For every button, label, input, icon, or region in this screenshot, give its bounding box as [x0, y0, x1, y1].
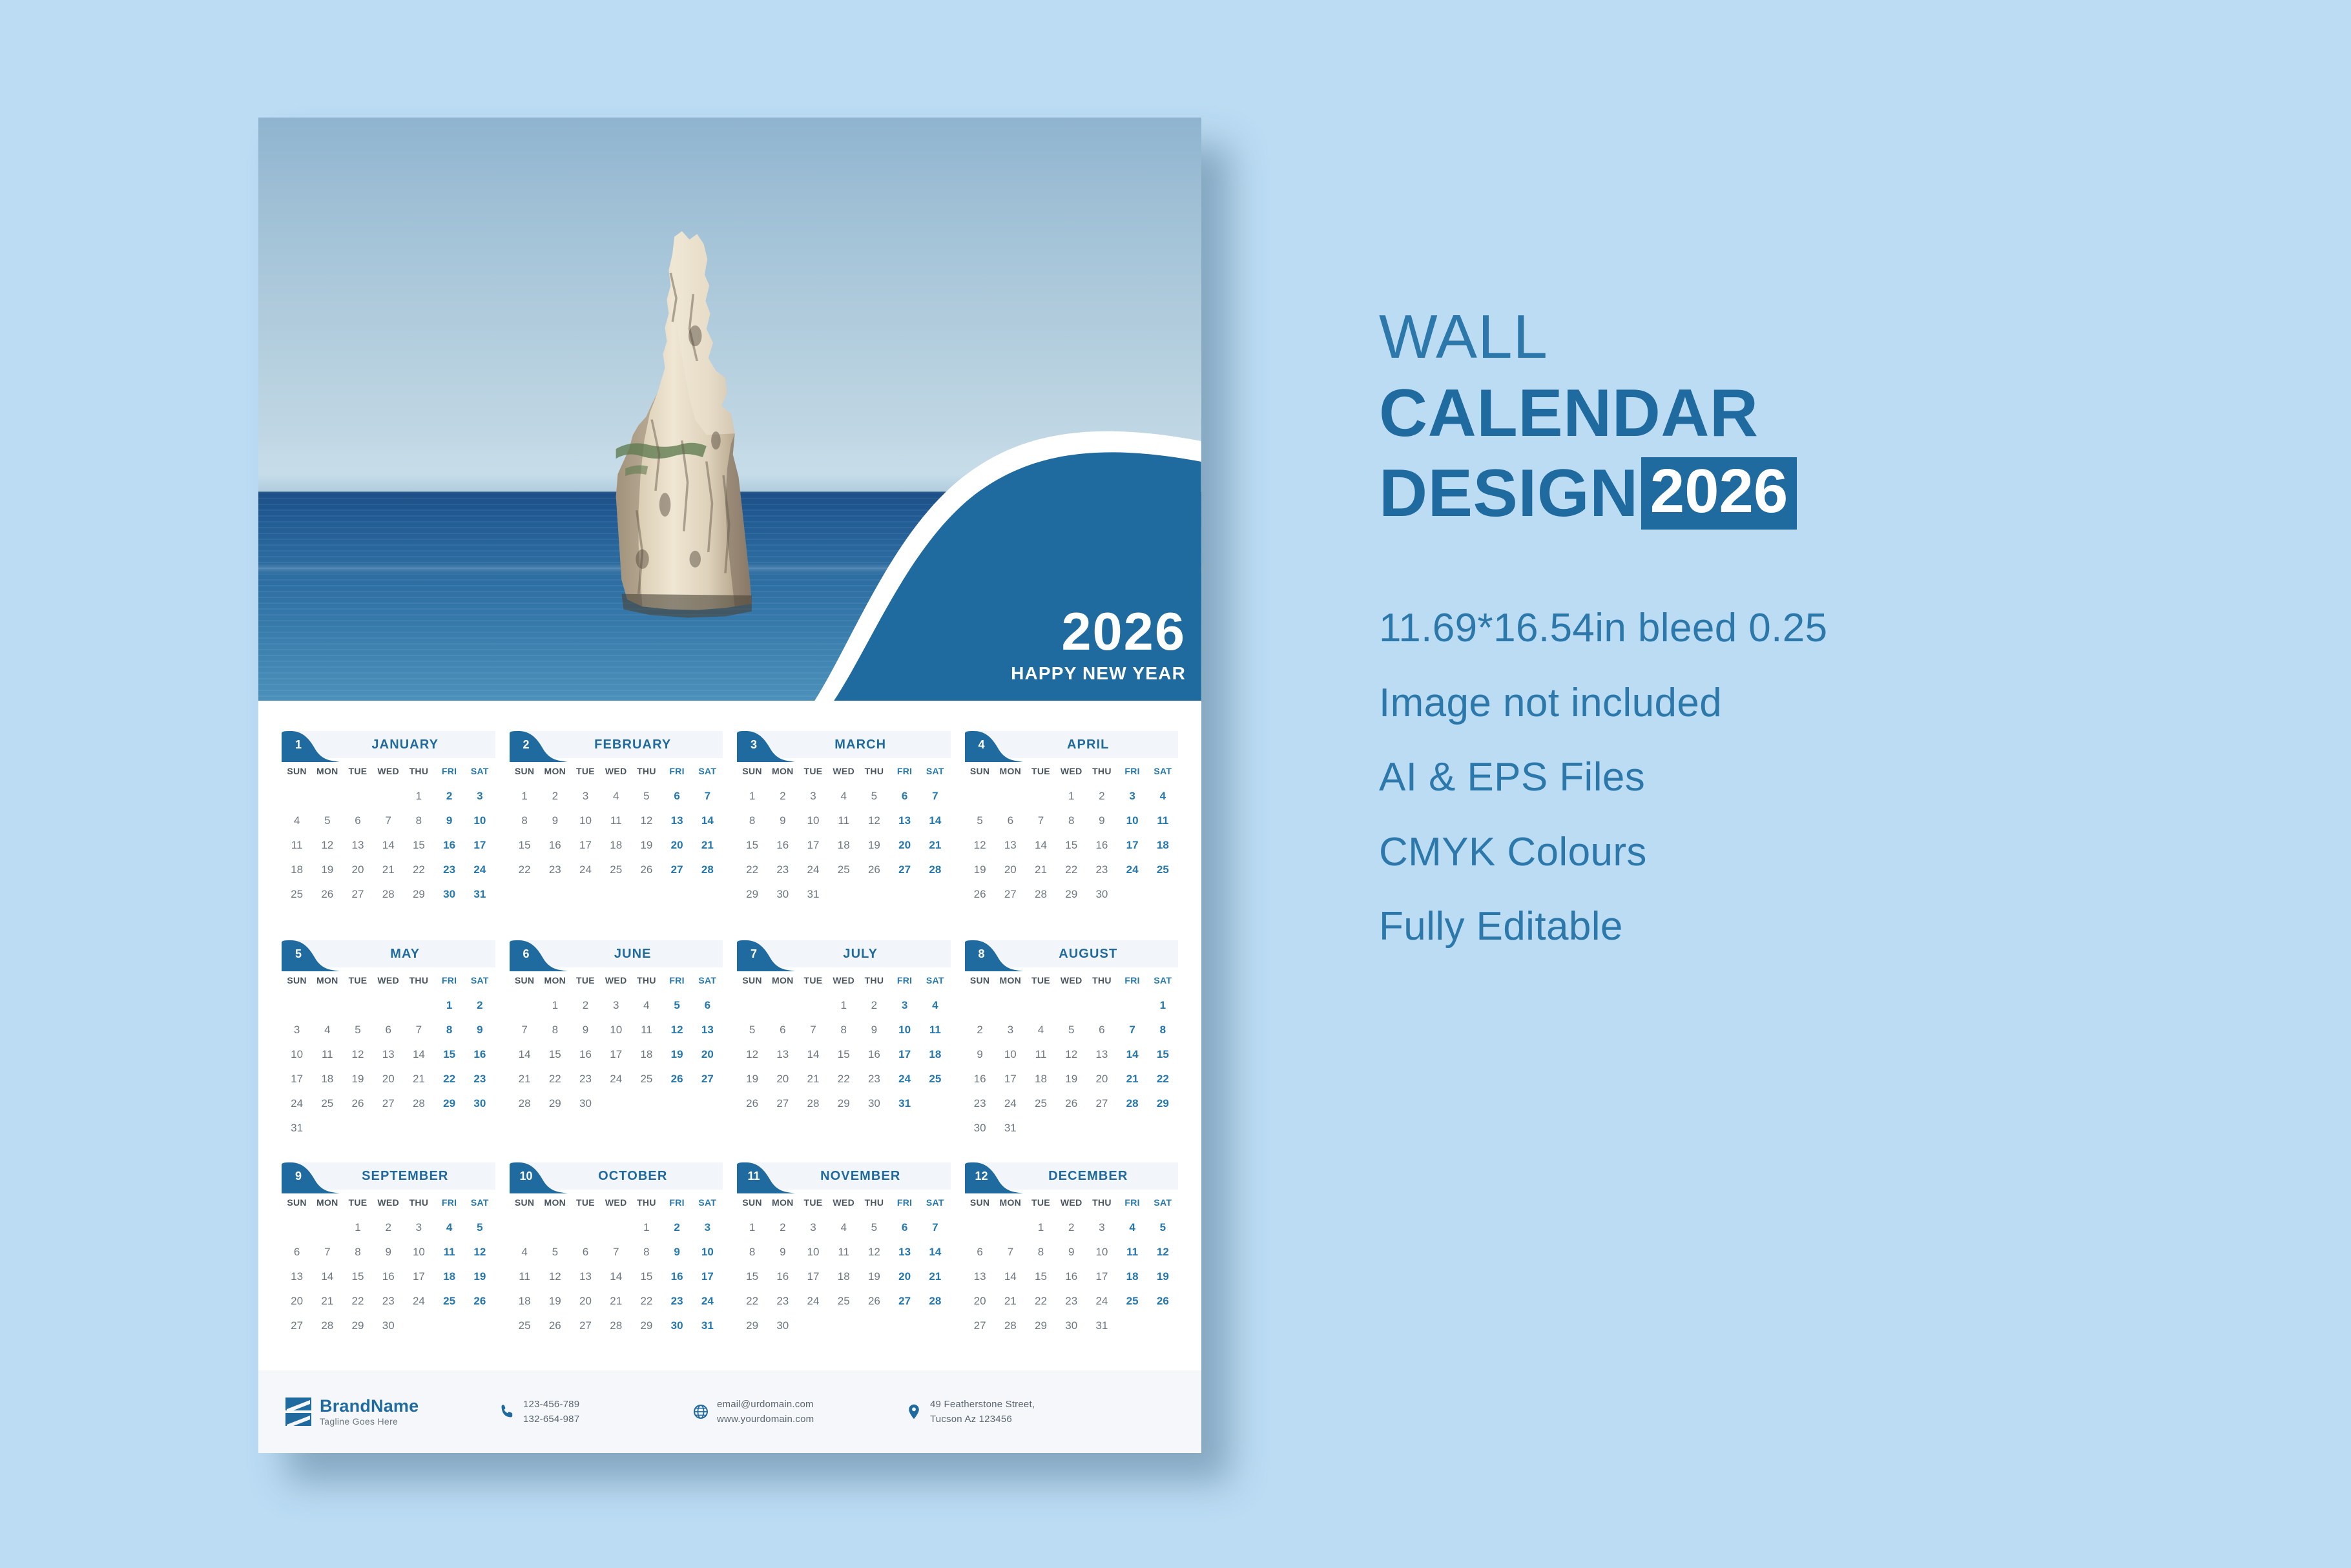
day-cell[interactable]: 17 [464, 833, 495, 858]
day-cell[interactable] [601, 1215, 631, 1240]
day-cell[interactable]: 13 [889, 809, 920, 833]
day-cell[interactable]: 16 [767, 1264, 798, 1289]
day-cell[interactable]: 14 [920, 1240, 950, 1264]
day-cell[interactable]: 11 [601, 809, 631, 833]
day-cell[interactable]: 14 [510, 1042, 540, 1067]
day-cell[interactable]: 29 [1026, 1314, 1056, 1338]
day-cell[interactable]: 11 [1026, 1042, 1056, 1067]
day-cell[interactable] [1117, 1314, 1148, 1338]
day-cell[interactable] [1026, 784, 1056, 809]
day-cell[interactable]: 1 [829, 993, 859, 1018]
day-cell[interactable] [373, 784, 404, 809]
day-cell[interactable]: 21 [510, 1067, 540, 1091]
day-cell[interactable]: 3 [995, 1018, 1026, 1042]
day-cell[interactable]: 15 [631, 1264, 661, 1289]
day-cell[interactable]: 2 [859, 993, 889, 1018]
day-cell[interactable]: 11 [434, 1240, 464, 1264]
day-cell[interactable] [373, 1116, 404, 1140]
day-cell[interactable]: 3 [1117, 784, 1148, 809]
day-cell[interactable] [798, 1116, 828, 1128]
day-cell[interactable]: 7 [1026, 809, 1056, 833]
day-cell[interactable]: 6 [342, 809, 373, 833]
day-cell[interactable] [889, 882, 920, 907]
day-cell[interactable] [510, 894, 540, 905]
day-cell[interactable]: 4 [312, 1018, 342, 1042]
day-cell[interactable]: 21 [1117, 1067, 1148, 1091]
day-cell[interactable]: 13 [692, 1018, 723, 1042]
day-cell[interactable] [692, 882, 723, 894]
day-cell[interactable] [1056, 1116, 1086, 1140]
day-cell[interactable]: 4 [829, 1215, 859, 1240]
day-cell[interactable]: 16 [540, 833, 570, 858]
day-cell[interactable]: 30 [464, 1091, 495, 1116]
day-cell[interactable]: 22 [342, 1289, 373, 1314]
day-cell[interactable]: 5 [1148, 1215, 1178, 1240]
day-cell[interactable]: 14 [692, 809, 723, 833]
day-cell[interactable]: 24 [995, 1091, 1026, 1116]
day-cell[interactable]: 8 [510, 809, 540, 833]
day-cell[interactable] [540, 1215, 570, 1240]
day-cell[interactable]: 6 [995, 809, 1026, 833]
day-cell[interactable]: 10 [995, 1042, 1026, 1067]
day-cell[interactable]: 30 [434, 882, 464, 907]
day-cell[interactable]: 25 [829, 858, 859, 882]
day-cell[interactable]: 6 [373, 1018, 404, 1042]
day-cell[interactable]: 13 [995, 833, 1026, 858]
day-cell[interactable]: 27 [342, 882, 373, 907]
day-cell[interactable]: 24 [889, 1067, 920, 1091]
day-cell[interactable] [510, 882, 540, 894]
day-cell[interactable]: 15 [1148, 1042, 1178, 1067]
day-cell[interactable] [282, 993, 312, 1018]
day-cell[interactable] [692, 1338, 723, 1350]
day-cell[interactable]: 10 [798, 1240, 828, 1264]
day-cell[interactable]: 24 [798, 1289, 828, 1314]
day-cell[interactable]: 18 [282, 858, 312, 882]
day-cell[interactable]: 25 [1148, 858, 1178, 882]
day-cell[interactable] [570, 882, 601, 894]
day-cell[interactable]: 2 [1056, 1215, 1086, 1240]
day-cell[interactable]: 26 [662, 1067, 692, 1091]
day-cell[interactable]: 5 [737, 1018, 767, 1042]
day-cell[interactable] [995, 1215, 1026, 1240]
day-cell[interactable]: 23 [662, 1289, 692, 1314]
day-cell[interactable] [995, 907, 1026, 918]
day-cell[interactable] [829, 1116, 859, 1128]
day-cell[interactable]: 15 [829, 1042, 859, 1067]
day-cell[interactable] [1086, 907, 1117, 918]
day-cell[interactable]: 28 [510, 1091, 540, 1116]
day-cell[interactable]: 20 [342, 858, 373, 882]
day-cell[interactable] [540, 1338, 570, 1350]
day-cell[interactable]: 23 [373, 1289, 404, 1314]
day-cell[interactable] [1117, 1338, 1148, 1350]
day-cell[interactable]: 16 [1086, 833, 1117, 858]
day-cell[interactable]: 27 [889, 1289, 920, 1314]
day-cell[interactable]: 29 [1148, 1091, 1178, 1116]
day-cell[interactable] [282, 907, 312, 918]
day-cell[interactable]: 20 [767, 1067, 798, 1091]
day-cell[interactable]: 22 [631, 1289, 661, 1314]
day-cell[interactable] [920, 1091, 950, 1116]
day-cell[interactable]: 20 [889, 833, 920, 858]
day-cell[interactable]: 12 [464, 1240, 495, 1264]
day-cell[interactable]: 8 [342, 1240, 373, 1264]
day-cell[interactable] [920, 907, 950, 918]
day-cell[interactable] [1026, 993, 1056, 1018]
day-cell[interactable]: 24 [570, 858, 601, 882]
day-cell[interactable]: 26 [312, 882, 342, 907]
day-cell[interactable]: 17 [798, 833, 828, 858]
day-cell[interactable]: 5 [464, 1215, 495, 1240]
day-cell[interactable] [859, 1314, 889, 1338]
day-cell[interactable]: 7 [920, 784, 950, 809]
day-cell[interactable] [631, 1338, 661, 1350]
day-cell[interactable] [342, 907, 373, 918]
day-cell[interactable] [404, 1116, 434, 1140]
day-cell[interactable] [965, 907, 995, 918]
day-cell[interactable]: 16 [767, 833, 798, 858]
day-cell[interactable]: 12 [965, 833, 995, 858]
day-cell[interactable] [601, 1091, 631, 1116]
day-cell[interactable]: 5 [540, 1240, 570, 1264]
day-cell[interactable]: 13 [662, 809, 692, 833]
day-cell[interactable] [540, 1116, 570, 1128]
day-cell[interactable] [342, 993, 373, 1018]
day-cell[interactable]: 30 [373, 1314, 404, 1338]
day-cell[interactable]: 25 [510, 1314, 540, 1338]
day-cell[interactable]: 24 [692, 1289, 723, 1314]
day-cell[interactable]: 15 [737, 1264, 767, 1289]
day-cell[interactable] [312, 1215, 342, 1240]
day-cell[interactable]: 27 [889, 858, 920, 882]
day-cell[interactable]: 14 [1026, 833, 1056, 858]
day-cell[interactable]: 5 [1056, 1018, 1086, 1042]
day-cell[interactable] [570, 1338, 601, 1350]
day-cell[interactable] [464, 907, 495, 918]
day-cell[interactable] [312, 1116, 342, 1140]
day-cell[interactable] [312, 1338, 342, 1350]
day-cell[interactable]: 31 [798, 882, 828, 907]
day-cell[interactable] [889, 1314, 920, 1338]
day-cell[interactable] [342, 1338, 373, 1350]
day-cell[interactable]: 7 [1117, 1018, 1148, 1042]
day-cell[interactable]: 16 [373, 1264, 404, 1289]
day-cell[interactable]: 12 [1056, 1042, 1086, 1067]
day-cell[interactable]: 29 [737, 1314, 767, 1338]
day-cell[interactable]: 16 [434, 833, 464, 858]
day-cell[interactable] [737, 1116, 767, 1128]
day-cell[interactable] [464, 1116, 495, 1140]
day-cell[interactable]: 9 [1086, 809, 1117, 833]
day-cell[interactable]: 1 [342, 1215, 373, 1240]
day-cell[interactable]: 22 [829, 1067, 859, 1091]
day-cell[interactable]: 6 [889, 1215, 920, 1240]
day-cell[interactable] [312, 784, 342, 809]
day-cell[interactable]: 14 [920, 809, 950, 833]
day-cell[interactable]: 27 [282, 1314, 312, 1338]
day-cell[interactable]: 14 [373, 833, 404, 858]
day-cell[interactable]: 22 [737, 1289, 767, 1314]
day-cell[interactable]: 20 [282, 1289, 312, 1314]
day-cell[interactable]: 22 [434, 1067, 464, 1091]
day-cell[interactable]: 18 [601, 833, 631, 858]
day-cell[interactable] [965, 1215, 995, 1240]
day-cell[interactable]: 24 [1117, 858, 1148, 882]
day-cell[interactable] [1086, 993, 1117, 1018]
day-cell[interactable]: 8 [540, 1018, 570, 1042]
day-cell[interactable]: 5 [859, 784, 889, 809]
day-cell[interactable]: 20 [662, 833, 692, 858]
day-cell[interactable]: 19 [631, 833, 661, 858]
day-cell[interactable] [1056, 993, 1086, 1018]
day-cell[interactable]: 2 [373, 1215, 404, 1240]
day-cell[interactable]: 30 [767, 1314, 798, 1338]
day-cell[interactable]: 1 [1026, 1215, 1056, 1240]
day-cell[interactable]: 17 [995, 1067, 1026, 1091]
day-cell[interactable]: 31 [995, 1116, 1026, 1140]
day-cell[interactable]: 26 [965, 882, 995, 907]
day-cell[interactable]: 16 [570, 1042, 601, 1067]
day-cell[interactable]: 4 [920, 993, 950, 1018]
day-cell[interactable]: 12 [631, 809, 661, 833]
day-cell[interactable]: 22 [510, 858, 540, 882]
day-cell[interactable] [1026, 907, 1056, 918]
day-cell[interactable] [540, 894, 570, 905]
day-cell[interactable]: 20 [570, 1289, 601, 1314]
day-cell[interactable]: 14 [312, 1264, 342, 1289]
day-cell[interactable]: 16 [859, 1042, 889, 1067]
day-cell[interactable]: 19 [859, 1264, 889, 1289]
footer-web[interactable]: email@urdomain.com www.yourdomain.com [692, 1397, 906, 1427]
day-cell[interactable]: 23 [767, 858, 798, 882]
day-cell[interactable] [767, 993, 798, 1018]
day-cell[interactable]: 9 [859, 1018, 889, 1042]
day-cell[interactable]: 29 [434, 1091, 464, 1116]
day-cell[interactable]: 30 [1056, 1314, 1086, 1338]
day-cell[interactable]: 3 [692, 1215, 723, 1240]
day-cell[interactable] [995, 1338, 1026, 1350]
day-cell[interactable]: 16 [662, 1264, 692, 1289]
day-cell[interactable]: 12 [662, 1018, 692, 1042]
day-cell[interactable]: 24 [282, 1091, 312, 1116]
day-cell[interactable] [1117, 1116, 1148, 1140]
day-cell[interactable]: 27 [965, 1314, 995, 1338]
day-cell[interactable]: 28 [312, 1314, 342, 1338]
day-cell[interactable]: 2 [767, 784, 798, 809]
day-cell[interactable]: 4 [1026, 1018, 1056, 1042]
day-cell[interactable] [889, 907, 920, 918]
day-cell[interactable]: 27 [995, 882, 1026, 907]
day-cell[interactable] [510, 1215, 540, 1240]
day-cell[interactable] [570, 894, 601, 905]
day-cell[interactable]: 9 [570, 1018, 601, 1042]
day-cell[interactable]: 11 [1148, 809, 1178, 833]
day-cell[interactable]: 27 [692, 1067, 723, 1091]
day-cell[interactable]: 19 [1148, 1264, 1178, 1289]
day-cell[interactable]: 11 [282, 833, 312, 858]
day-cell[interactable]: 9 [965, 1042, 995, 1067]
day-cell[interactable]: 14 [1117, 1042, 1148, 1067]
day-cell[interactable]: 9 [662, 1240, 692, 1264]
day-cell[interactable]: 31 [282, 1116, 312, 1140]
day-cell[interactable]: 17 [889, 1042, 920, 1067]
day-cell[interactable] [859, 1338, 889, 1350]
day-cell[interactable] [859, 1116, 889, 1128]
day-cell[interactable]: 7 [920, 1215, 950, 1240]
day-cell[interactable]: 8 [1148, 1018, 1178, 1042]
day-cell[interactable]: 22 [540, 1067, 570, 1091]
day-cell[interactable]: 3 [464, 784, 495, 809]
day-cell[interactable]: 29 [342, 1314, 373, 1338]
day-cell[interactable]: 21 [692, 833, 723, 858]
day-cell[interactable]: 13 [373, 1042, 404, 1067]
day-cell[interactable]: 3 [889, 993, 920, 1018]
day-cell[interactable] [1086, 1338, 1117, 1350]
day-cell[interactable] [1026, 1116, 1056, 1140]
day-cell[interactable] [312, 907, 342, 918]
day-cell[interactable] [570, 1215, 601, 1240]
day-cell[interactable]: 28 [995, 1314, 1026, 1338]
day-cell[interactable] [1148, 1338, 1178, 1350]
day-cell[interactable] [1117, 993, 1148, 1018]
day-cell[interactable]: 20 [692, 1042, 723, 1067]
day-cell[interactable]: 11 [1117, 1240, 1148, 1264]
day-cell[interactable] [1086, 1116, 1117, 1140]
day-cell[interactable]: 22 [404, 858, 434, 882]
day-cell[interactable]: 18 [920, 1042, 950, 1067]
day-cell[interactable]: 18 [1026, 1067, 1056, 1091]
day-cell[interactable]: 17 [282, 1067, 312, 1091]
day-cell[interactable]: 28 [404, 1091, 434, 1116]
day-cell[interactable]: 26 [859, 858, 889, 882]
day-cell[interactable] [1148, 1314, 1178, 1338]
day-cell[interactable] [282, 784, 312, 809]
day-cell[interactable]: 23 [570, 1067, 601, 1091]
day-cell[interactable]: 7 [995, 1240, 1026, 1264]
day-cell[interactable]: 11 [829, 809, 859, 833]
day-cell[interactable]: 3 [601, 993, 631, 1018]
day-cell[interactable] [464, 1314, 495, 1338]
day-cell[interactable]: 20 [373, 1067, 404, 1091]
day-cell[interactable] [920, 882, 950, 907]
day-cell[interactable] [373, 1338, 404, 1350]
day-cell[interactable]: 2 [662, 1215, 692, 1240]
day-cell[interactable]: 6 [282, 1240, 312, 1264]
day-cell[interactable] [1148, 907, 1178, 918]
day-cell[interactable]: 15 [342, 1264, 373, 1289]
day-cell[interactable]: 19 [965, 858, 995, 882]
day-cell[interactable] [920, 1116, 950, 1128]
day-cell[interactable] [434, 907, 464, 918]
day-cell[interactable]: 1 [1056, 784, 1086, 809]
day-cell[interactable]: 23 [434, 858, 464, 882]
footer-phone[interactable]: 123-456-789 132-654-987 [499, 1397, 692, 1427]
day-cell[interactable] [737, 907, 767, 918]
day-cell[interactable] [434, 1314, 464, 1338]
day-cell[interactable]: 20 [889, 1264, 920, 1289]
day-cell[interactable]: 25 [601, 858, 631, 882]
day-cell[interactable]: 9 [434, 809, 464, 833]
day-cell[interactable] [798, 1314, 828, 1338]
day-cell[interactable]: 4 [631, 993, 661, 1018]
day-cell[interactable] [692, 894, 723, 905]
day-cell[interactable]: 23 [464, 1067, 495, 1091]
day-cell[interactable]: 25 [312, 1091, 342, 1116]
day-cell[interactable] [662, 894, 692, 905]
day-cell[interactable]: 28 [601, 1314, 631, 1338]
day-cell[interactable]: 21 [798, 1067, 828, 1091]
day-cell[interactable]: 20 [965, 1289, 995, 1314]
day-cell[interactable]: 27 [662, 858, 692, 882]
day-cell[interactable]: 9 [464, 1018, 495, 1042]
day-cell[interactable]: 21 [1026, 858, 1056, 882]
day-cell[interactable]: 26 [464, 1289, 495, 1314]
day-cell[interactable] [889, 1338, 920, 1350]
day-cell[interactable] [434, 1338, 464, 1350]
day-cell[interactable] [859, 907, 889, 918]
day-cell[interactable]: 4 [1148, 784, 1178, 809]
day-cell[interactable]: 9 [540, 809, 570, 833]
day-cell[interactable]: 3 [282, 1018, 312, 1042]
day-cell[interactable]: 4 [282, 809, 312, 833]
day-cell[interactable]: 9 [1056, 1240, 1086, 1264]
day-cell[interactable]: 31 [692, 1314, 723, 1338]
day-cell[interactable]: 2 [965, 1018, 995, 1042]
day-cell[interactable]: 21 [920, 833, 950, 858]
day-cell[interactable]: 19 [540, 1289, 570, 1314]
day-cell[interactable]: 24 [601, 1067, 631, 1091]
day-cell[interactable]: 19 [464, 1264, 495, 1289]
day-cell[interactable]: 3 [1086, 1215, 1117, 1240]
day-cell[interactable] [404, 1314, 434, 1338]
day-cell[interactable]: 11 [920, 1018, 950, 1042]
day-cell[interactable] [662, 1116, 692, 1128]
day-cell[interactable]: 14 [601, 1264, 631, 1289]
day-cell[interactable]: 28 [920, 1289, 950, 1314]
day-cell[interactable]: 7 [312, 1240, 342, 1264]
day-cell[interactable]: 17 [601, 1042, 631, 1067]
day-cell[interactable]: 19 [737, 1067, 767, 1091]
day-cell[interactable] [342, 784, 373, 809]
day-cell[interactable]: 22 [1026, 1289, 1056, 1314]
day-cell[interactable]: 18 [434, 1264, 464, 1289]
day-cell[interactable] [692, 1091, 723, 1116]
day-cell[interactable]: 11 [510, 1264, 540, 1289]
day-cell[interactable]: 18 [312, 1067, 342, 1091]
day-cell[interactable] [767, 907, 798, 918]
day-cell[interactable]: 23 [767, 1289, 798, 1314]
day-cell[interactable]: 2 [434, 784, 464, 809]
day-cell[interactable]: 1 [510, 784, 540, 809]
day-cell[interactable]: 18 [510, 1289, 540, 1314]
day-cell[interactable]: 26 [342, 1091, 373, 1116]
day-cell[interactable]: 12 [540, 1264, 570, 1289]
day-cell[interactable] [920, 1338, 950, 1350]
day-cell[interactable]: 12 [1148, 1240, 1178, 1264]
day-cell[interactable]: 20 [995, 858, 1026, 882]
day-cell[interactable] [798, 993, 828, 1018]
day-cell[interactable]: 21 [601, 1289, 631, 1314]
day-cell[interactable] [1026, 1338, 1056, 1350]
day-cell[interactable]: 29 [631, 1314, 661, 1338]
day-cell[interactable]: 24 [798, 858, 828, 882]
day-cell[interactable] [404, 907, 434, 918]
day-cell[interactable] [829, 1338, 859, 1350]
day-cell[interactable]: 5 [631, 784, 661, 809]
day-cell[interactable]: 2 [540, 784, 570, 809]
day-cell[interactable]: 15 [510, 833, 540, 858]
